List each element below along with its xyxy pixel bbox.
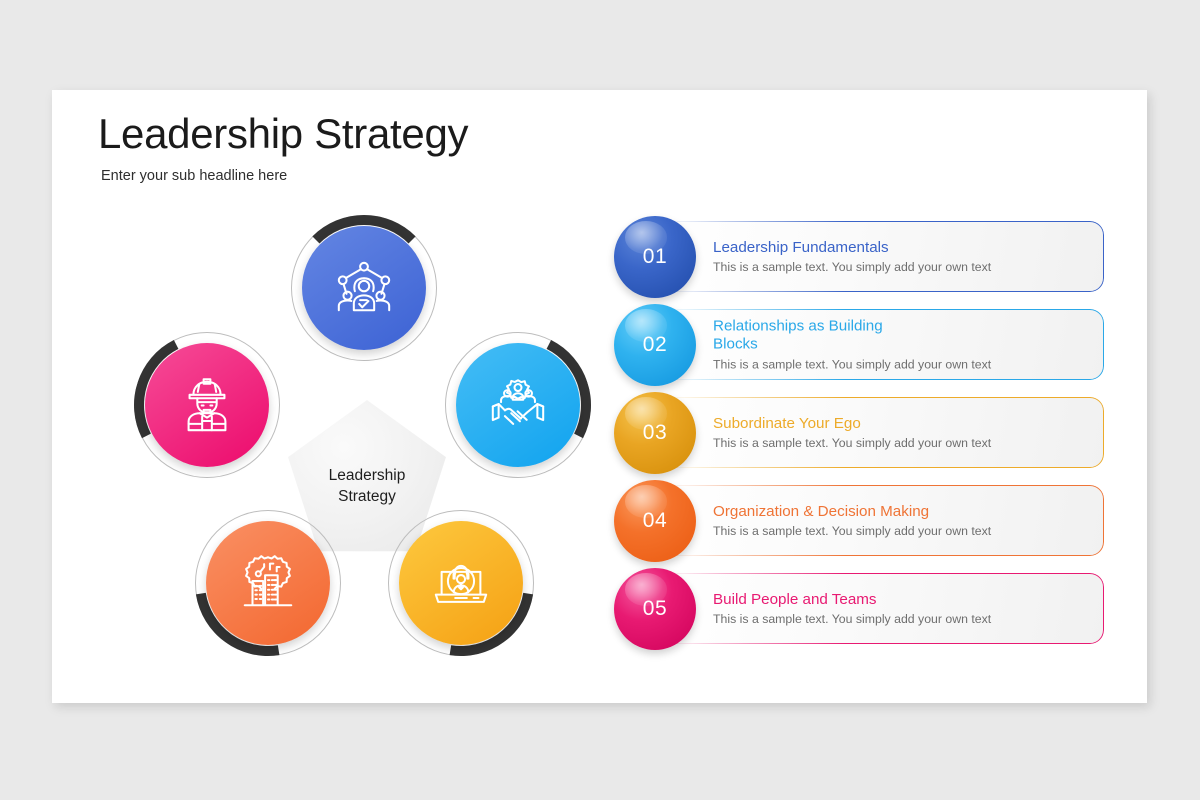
list-item-card: Subordinate Your Ego This is a sample te… — [658, 397, 1104, 468]
slide-canvas: Leadership Strategy Enter your sub headl… — [52, 90, 1147, 703]
list-item-badge[interactable]: 01 — [614, 216, 696, 298]
list-item-card: Leadership Fundamentals This is a sample… — [658, 221, 1104, 292]
list-item-description: This is a sample text. You simply add yo… — [713, 524, 1088, 539]
list-item-card: Relationships as Building Blocks This is… — [658, 309, 1104, 380]
list-item-number: 05 — [643, 597, 668, 621]
node-disc — [302, 226, 426, 350]
list-item-number: 04 — [643, 509, 668, 533]
card-text: Subordinate Your Ego This is a sample te… — [713, 414, 1088, 450]
list-item[interactable]: Organization & Decision Making This is a… — [614, 482, 1104, 559]
list-item[interactable]: Leadership Fundamentals This is a sample… — [614, 218, 1104, 295]
list-item-card: Organization & Decision Making This is a… — [658, 485, 1104, 556]
list-item-title: Relationships as Building Blocks — [713, 317, 1088, 354]
building-gear-icon — [237, 552, 299, 614]
diagram-node-3[interactable] — [388, 510, 534, 656]
list-item-number: 02 — [643, 333, 668, 357]
worker-helmet-icon — [176, 374, 238, 436]
list-item-title: Organization & Decision Making — [713, 502, 1088, 521]
list-item-title: Build People and Teams — [713, 590, 1088, 609]
numbered-list: Leadership Fundamentals This is a sample… — [614, 218, 1104, 658]
diagram-center-label: Leadership Strategy — [329, 466, 406, 508]
list-item-title: Subordinate Your Ego — [713, 414, 1088, 433]
card-text: Organization & Decision Making This is a… — [713, 502, 1088, 538]
team-network-icon — [333, 257, 395, 319]
list-item-badge[interactable]: 02 — [614, 304, 696, 386]
list-item-description: This is a sample text. You simply add yo… — [713, 260, 1088, 275]
node-disc — [145, 343, 269, 467]
page-title: Leadership Strategy — [98, 110, 468, 158]
laptop-agent-icon — [430, 552, 492, 614]
card-text: Leadership Fundamentals This is a sample… — [713, 238, 1088, 274]
list-item[interactable]: Build People and Teams This is a sample … — [614, 570, 1104, 647]
diagram-node-5[interactable] — [134, 332, 280, 478]
list-item[interactable]: Relationships as Building Blocks This is… — [614, 306, 1104, 383]
list-item-card: Build People and Teams This is a sample … — [658, 573, 1104, 644]
node-disc — [399, 521, 523, 645]
node-disc — [206, 521, 330, 645]
diagram-node-1[interactable] — [291, 215, 437, 361]
list-item-description: This is a sample text. You simply add yo… — [713, 357, 1088, 372]
diagram-node-4[interactable] — [195, 510, 341, 656]
diagram-node-2[interactable] — [445, 332, 591, 478]
page-subtitle: Enter your sub headline here — [101, 168, 468, 184]
handshake-team-icon — [487, 374, 549, 436]
list-item-number: 03 — [643, 421, 668, 445]
slide-header: Leadership Strategy Enter your sub headl… — [98, 110, 468, 184]
circular-diagram: Leadership Strategy — [100, 215, 620, 675]
list-item-title: Leadership Fundamentals — [713, 238, 1088, 257]
card-text: Build People and Teams This is a sample … — [713, 590, 1088, 626]
list-item-badge[interactable]: 04 — [614, 480, 696, 562]
list-item-badge[interactable]: 03 — [614, 392, 696, 474]
list-item-badge[interactable]: 05 — [614, 568, 696, 650]
list-item-description: This is a sample text. You simply add yo… — [713, 612, 1088, 627]
list-item[interactable]: Subordinate Your Ego This is a sample te… — [614, 394, 1104, 471]
node-disc — [456, 343, 580, 467]
list-item-number: 01 — [643, 245, 668, 269]
card-text: Relationships as Building Blocks This is… — [713, 317, 1088, 372]
list-item-description: This is a sample text. You simply add yo… — [713, 436, 1088, 451]
